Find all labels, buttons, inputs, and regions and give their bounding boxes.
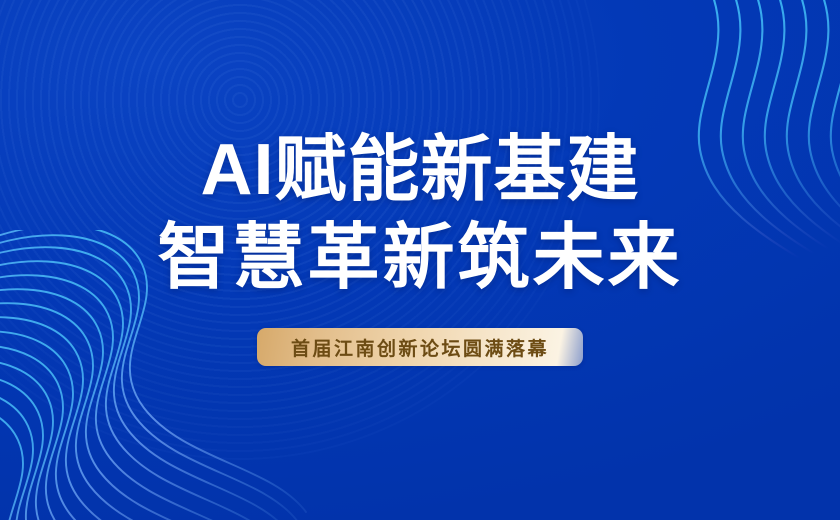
headline-line-2: 智慧革新筑未来 — [157, 214, 682, 302]
ribbon-container: 首届江南创新论坛圆满落幕 — [257, 328, 583, 366]
promo-banner: AI赋能新基建 智慧革新筑未来 首届江南创新论坛圆满落幕 — [0, 0, 840, 520]
ribbon-label: 首届江南创新论坛圆满落幕 — [291, 334, 549, 361]
headline-line-1: AI赋能新基建 — [200, 126, 639, 214]
banner-content: AI赋能新基建 智慧革新筑未来 首届江南创新论坛圆满落幕 — [0, 0, 840, 520]
gold-ribbon: 首届江南创新论坛圆满落幕 — [257, 328, 583, 366]
